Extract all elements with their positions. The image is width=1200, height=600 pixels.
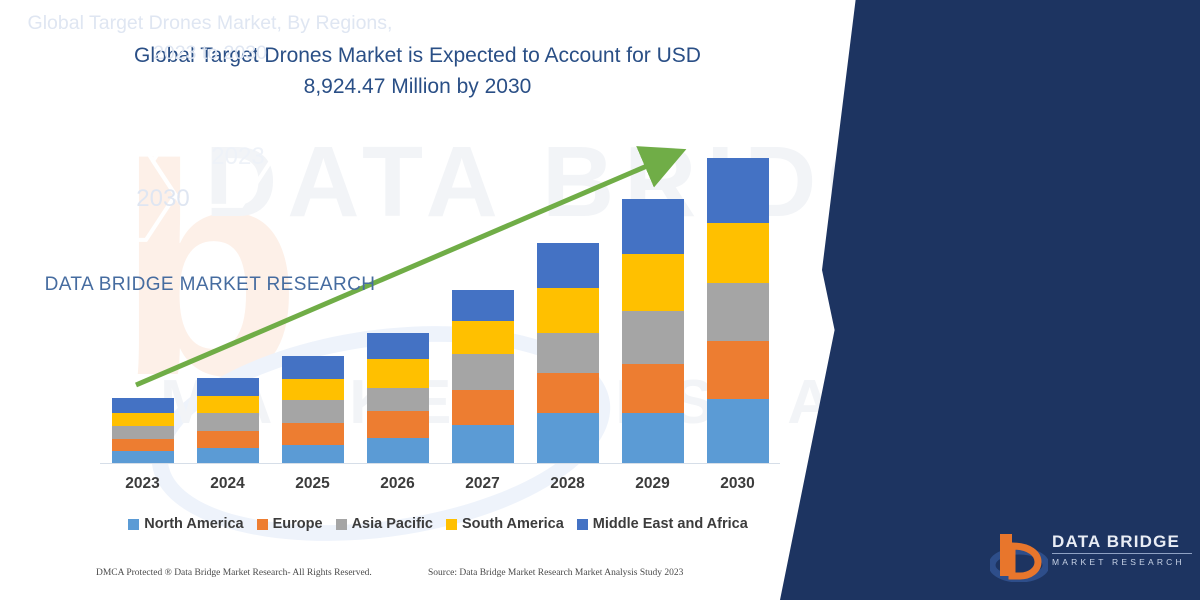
bar-segment (452, 425, 514, 463)
bar-segment (367, 438, 429, 463)
bar-segment (622, 254, 684, 311)
bar-segment (452, 354, 514, 390)
bar-2025[interactable] (282, 356, 344, 463)
logo-line2: MARKET RESEARCH (1052, 557, 1192, 568)
bar-segment (282, 445, 344, 463)
x-axis-label-2026: 2026 (358, 475, 438, 493)
legend-swatch-icon (128, 519, 139, 530)
bar-segment (537, 288, 599, 333)
bar-segment (622, 413, 684, 463)
x-axis-label-2023: 2023 (103, 475, 183, 493)
bar-segment (622, 364, 684, 413)
bar-segment (282, 379, 344, 400)
bar-2029[interactable] (622, 199, 684, 463)
x-axis-label-2029: 2029 (613, 475, 693, 493)
legend-swatch-icon (577, 519, 588, 530)
legend-label: South America (462, 516, 564, 532)
bar-2027[interactable] (452, 290, 514, 463)
bar-segment (197, 378, 259, 396)
bar-segment (452, 390, 514, 425)
bar-segment (537, 413, 599, 463)
bar-segment (537, 373, 599, 413)
bar-2023[interactable] (112, 398, 174, 463)
footer-source: Source: Data Bridge Market Research Mark… (428, 568, 683, 578)
bar-segment (707, 223, 769, 283)
legend-item[interactable]: Europe (257, 516, 323, 532)
right-panel (780, 0, 1200, 600)
legend-swatch-icon (446, 519, 457, 530)
x-axis-label-2030: 2030 (698, 475, 778, 493)
legend-label: North America (144, 516, 243, 532)
bar-segment (112, 398, 174, 413)
bar-segment (707, 399, 769, 463)
legend-swatch-icon (257, 519, 268, 530)
bar-segment (367, 333, 429, 359)
data-bridge-logo-mark-icon (990, 528, 1048, 582)
bar-segment (112, 413, 174, 426)
bar-segment (282, 423, 344, 445)
bar-segment (282, 356, 344, 379)
bar-segment (197, 448, 259, 463)
logo-text: DATA BRIDGE MARKET RESEARCH (1052, 532, 1192, 568)
legend-item[interactable]: South America (446, 516, 564, 532)
bar-segment (367, 359, 429, 388)
bar-segment (367, 388, 429, 411)
bar-segment (367, 411, 429, 438)
x-axis-labels: 20232024202520262027202820292030 (100, 475, 780, 499)
bar-segment (622, 199, 684, 254)
bar-segment (197, 431, 259, 448)
bar-segment (452, 321, 514, 354)
x-axis-label-2028: 2028 (528, 475, 608, 493)
hexagon-label-left: 2030 (136, 185, 189, 212)
legend-label: Asia Pacific (352, 516, 433, 532)
bar-segment (197, 396, 259, 413)
bar-segment (707, 283, 769, 341)
x-axis-label-2027: 2027 (443, 475, 523, 493)
hexagon-pair-icon: 2023 2030 (0, 110, 420, 245)
hexagon-badges: 2023 2030 (0, 110, 420, 245)
infographic-root: b DATA BRIDGE MARKET RESEARCH Global Tar… (0, 0, 1200, 600)
legend-item[interactable]: Asia Pacific (336, 516, 433, 532)
bar-2024[interactable] (197, 378, 259, 463)
bar-segment (622, 311, 684, 364)
x-axis-label-2025: 2025 (273, 475, 353, 493)
legend-label: Middle East and Africa (593, 516, 748, 532)
logo-divider (1052, 553, 1192, 554)
panel-brand-text: DATA BRIDGE MARKET RESEARCH (20, 270, 400, 300)
logo-line1: DATA BRIDGE (1052, 532, 1192, 551)
bar-segment (707, 341, 769, 399)
legend-label: Europe (273, 516, 323, 532)
bar-2030[interactable] (707, 158, 769, 463)
bar-segment (282, 400, 344, 423)
bar-segment (112, 426, 174, 439)
bar-segment (537, 333, 599, 373)
company-logo[interactable]: DATA BRIDGE MARKET RESEARCH (990, 524, 1190, 586)
bar-segment (197, 413, 259, 431)
footer-copyright: DMCA Protected ® Data Bridge Market Rese… (96, 568, 372, 578)
bar-segment (112, 451, 174, 463)
legend-swatch-icon (336, 519, 347, 530)
bar-2028[interactable] (537, 243, 599, 463)
hexagon-label-right: 2023 (211, 143, 264, 170)
bar-segment (537, 243, 599, 288)
bar-segment (707, 158, 769, 223)
panel-title: Global Target Drones Market, By Regions,… (20, 8, 400, 68)
x-axis-line (100, 463, 780, 464)
legend-item[interactable]: Middle East and Africa (577, 516, 748, 532)
bar-2026[interactable] (367, 333, 429, 463)
bar-segment (112, 439, 174, 451)
x-axis-label-2024: 2024 (188, 475, 268, 493)
legend-item[interactable]: North America (128, 516, 243, 532)
bar-segment (452, 290, 514, 321)
chart-legend: North AmericaEuropeAsia PacificSouth Ame… (108, 513, 768, 535)
